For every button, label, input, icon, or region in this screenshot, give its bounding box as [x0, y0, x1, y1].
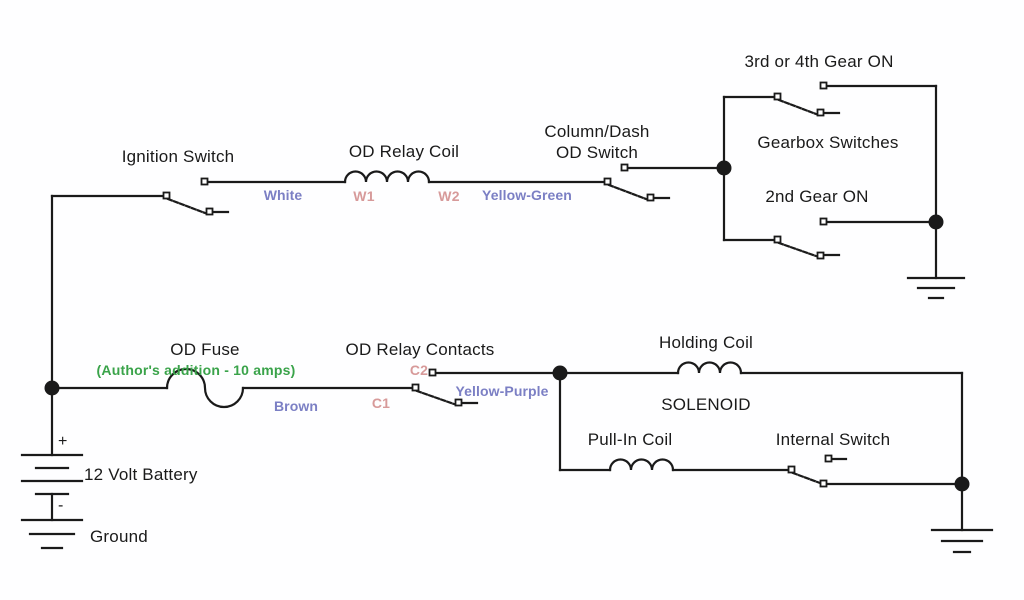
label-internal-switch: Internal Switch	[776, 431, 891, 448]
terminal-internal-switch-nc	[826, 456, 832, 462]
holding-coil-symbol	[678, 363, 741, 373]
label-ignition-switch: Ignition Switch	[122, 148, 235, 165]
junction-solenoid-input	[553, 366, 568, 381]
label-battery-minus-sign: -	[58, 498, 64, 514]
terminal-c2	[430, 370, 436, 376]
label-3rd-or-4th-gear-on: 3rd or 4th Gear ON	[744, 53, 893, 70]
wire-internal-switch-blade	[793, 473, 820, 483]
pull-in-coil-symbol	[610, 460, 673, 471]
terminal-gearbox-lower-right	[818, 253, 824, 259]
label-wire-yellow-green: Yellow-Green	[482, 188, 572, 202]
wire-gearbox-lower-blade	[779, 243, 816, 256]
junction-gearbox-output	[929, 215, 944, 230]
terminal-column-out	[622, 165, 628, 171]
label-terminal-c1: C1	[372, 396, 390, 410]
terminal-gearbox-lower-left	[775, 237, 781, 243]
terminal-c1	[413, 385, 419, 391]
wiring-diagram: Ignition Switch OD Relay Coil Column/Das…	[0, 0, 1024, 600]
label-solenoid: SOLENOID	[661, 396, 750, 413]
label-column-dash-od-switch-line1: Column/Dash	[544, 123, 649, 140]
label-pull-in-coil: Pull-In Coil	[588, 431, 673, 448]
junction-gearbox-input	[717, 161, 732, 176]
label-wire-yellow-purple: Yellow-Purple	[455, 384, 548, 398]
label-battery-plus-sign: +	[58, 434, 68, 450]
terminal-white-start	[202, 179, 208, 185]
terminal-c2-blade	[456, 400, 462, 406]
terminal-gearbox-upper-right	[818, 110, 824, 116]
terminal-gearbox-lower-out	[821, 219, 827, 225]
wire-relay-contacts-blade	[417, 391, 454, 404]
label-2nd-gear-on: 2nd Gear ON	[765, 188, 868, 205]
label-terminal-c2: C2	[410, 363, 428, 377]
label-12-volt-battery: 12 Volt Battery	[84, 466, 198, 483]
label-wire-white: White	[264, 188, 303, 202]
wire-column-dash-blade	[609, 185, 646, 199]
label-terminal-w2: W2	[438, 189, 459, 203]
terminal-ignition-right	[207, 209, 213, 215]
terminal-column-right	[648, 195, 654, 201]
label-ground: Ground	[90, 528, 148, 545]
terminal-ignition-left	[164, 193, 170, 199]
label-od-relay-coil: OD Relay Coil	[349, 143, 459, 160]
label-od-relay-contacts: OD Relay Contacts	[346, 341, 495, 358]
circuit-schematic-svg	[0, 0, 1024, 600]
label-wire-brown: Brown	[274, 399, 318, 413]
terminal-internal-switch-right	[821, 481, 827, 487]
label-column-dash-od-switch-line2: OD Switch	[556, 144, 638, 161]
terminal-internal-switch-left	[789, 467, 795, 473]
wire-gearbox-upper-blade	[779, 100, 816, 114]
terminal-column-left	[605, 179, 611, 185]
label-terminal-w1: W1	[353, 189, 374, 203]
label-holding-coil: Holding Coil	[659, 334, 753, 351]
od-relay-coil-symbol	[345, 172, 429, 183]
terminal-gearbox-upper-out	[821, 83, 827, 89]
wire-ignition-blade	[168, 199, 205, 213]
junction-battery-positive	[45, 381, 60, 396]
junction-solenoid-ground	[955, 477, 970, 492]
terminal-gearbox-upper-left	[775, 94, 781, 100]
label-authors-addition-note: (Author's addition - 10 amps)	[97, 363, 296, 377]
label-od-fuse: OD Fuse	[170, 341, 239, 358]
label-gearbox-switches: Gearbox Switches	[757, 134, 898, 151]
